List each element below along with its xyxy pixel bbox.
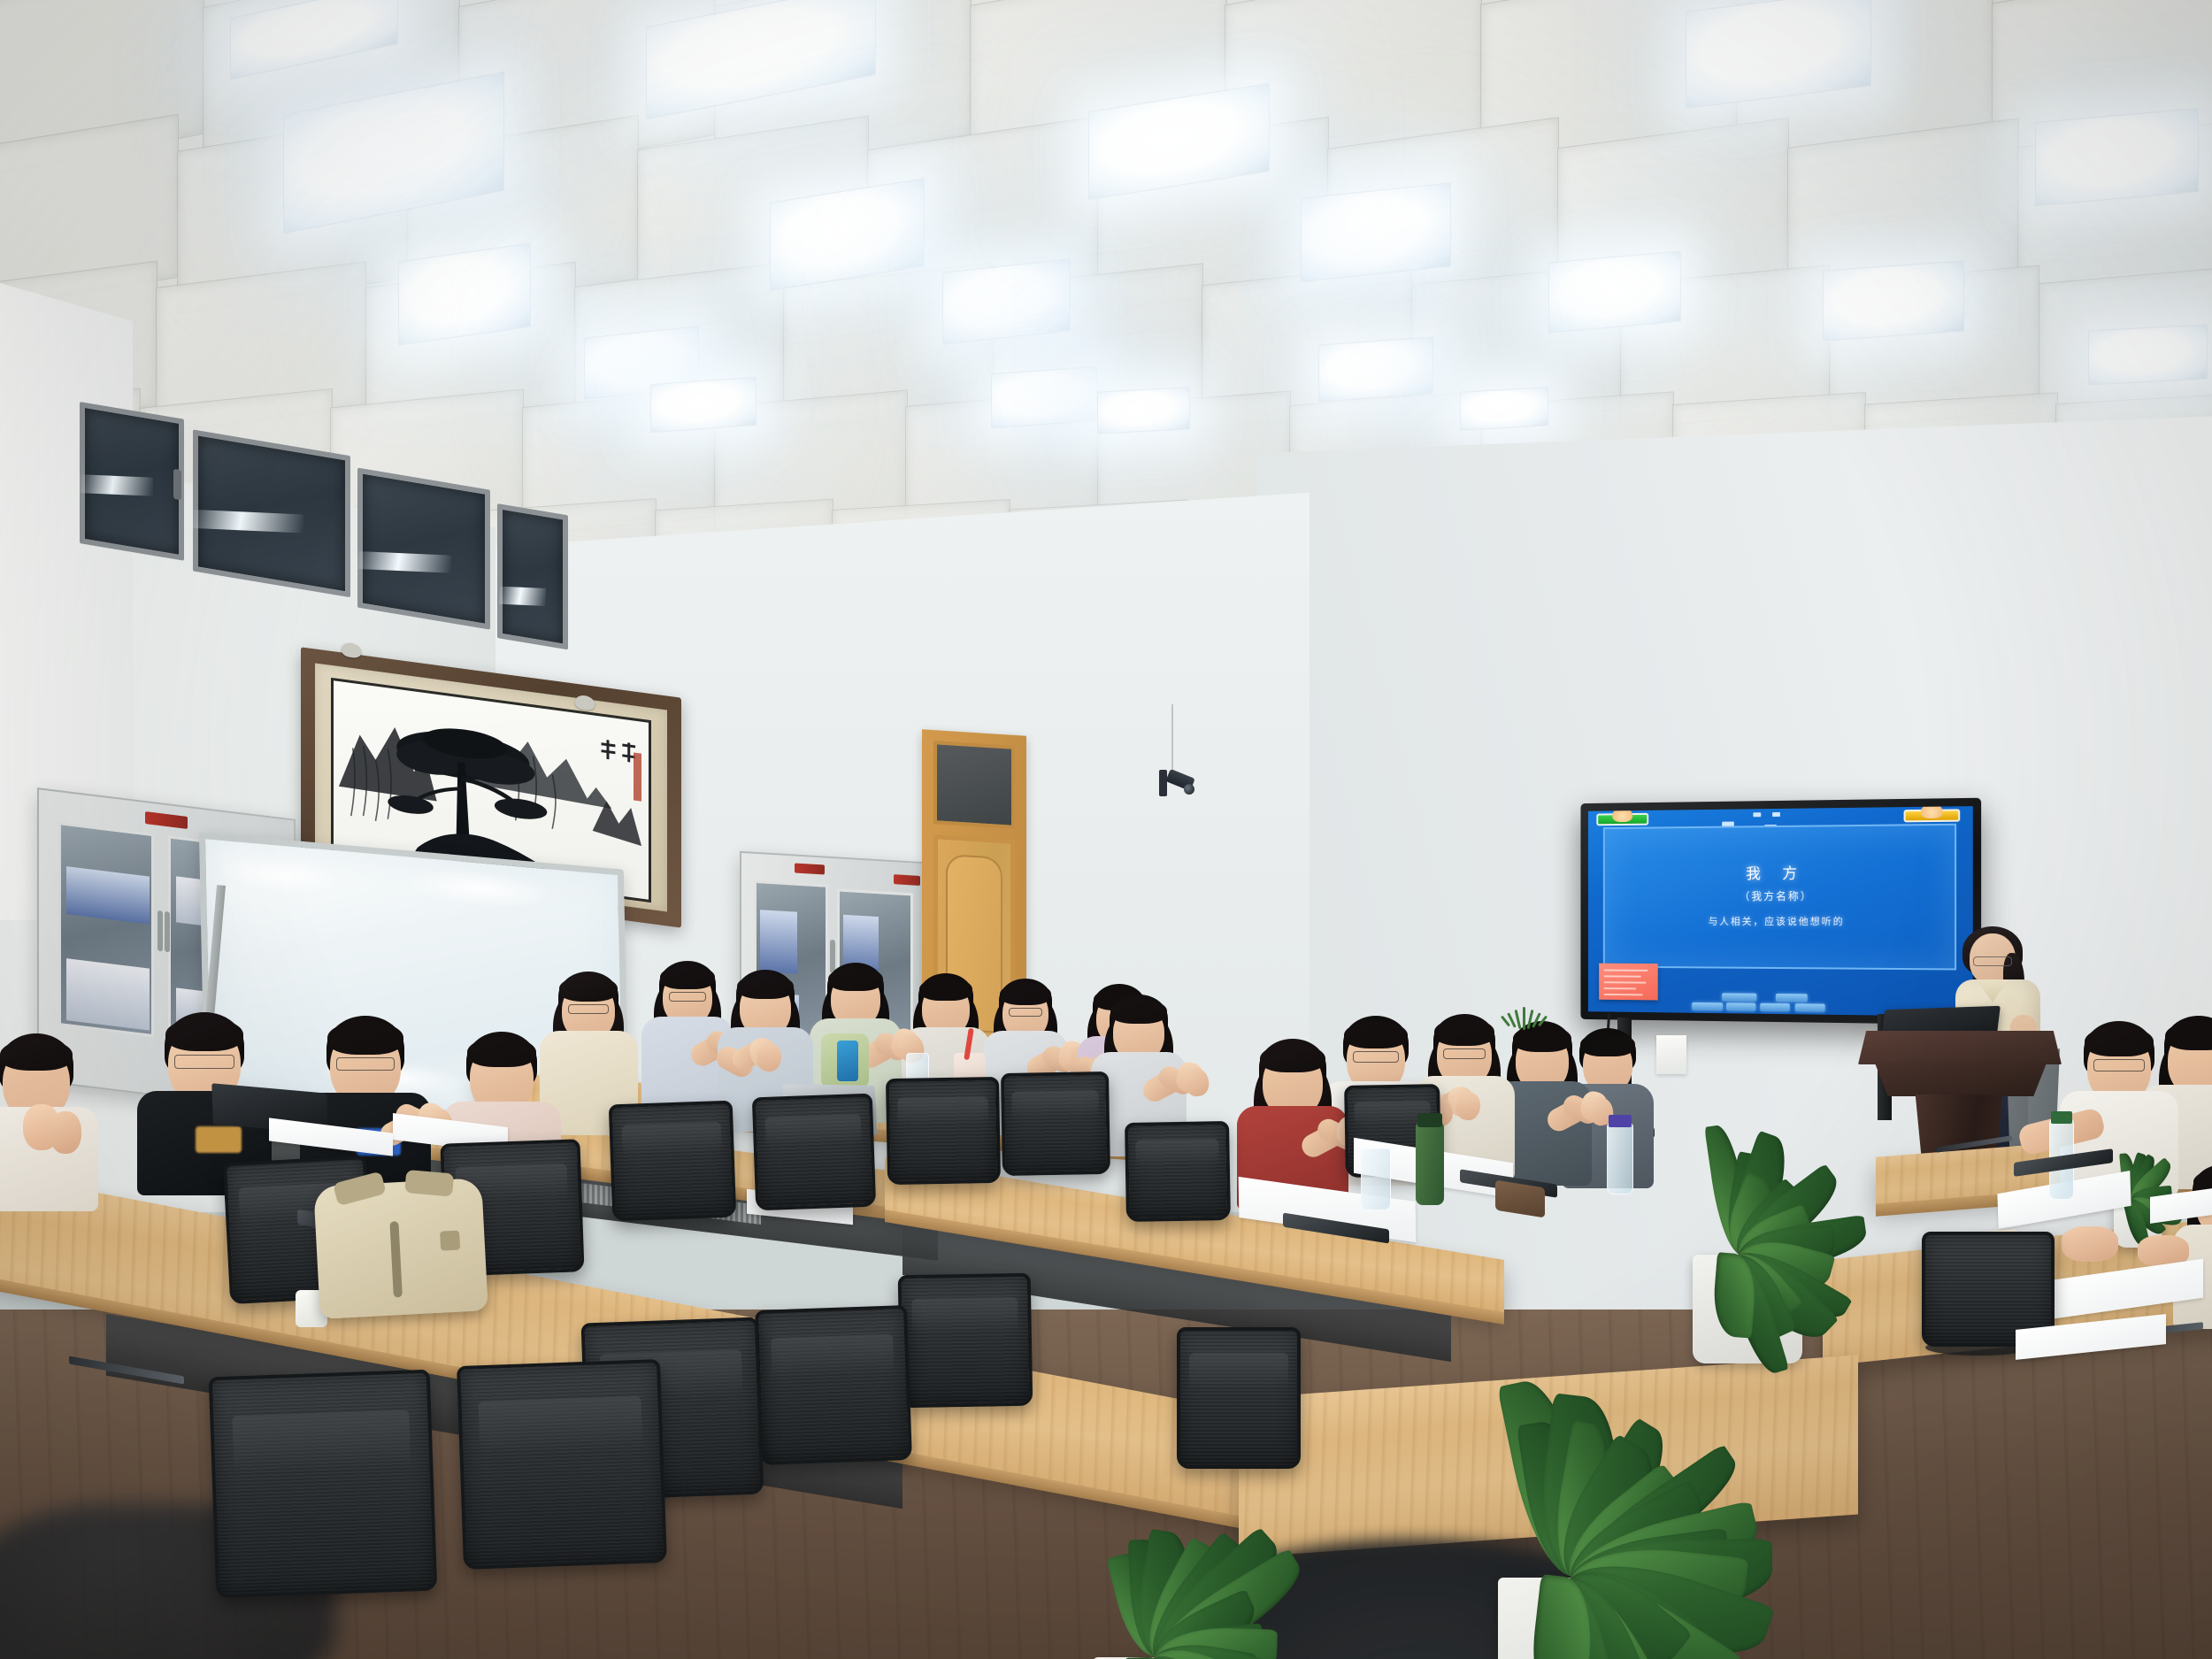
classroom-scene: 我 方 （我方名称） 与人相关，应该说他想听的 (0, 0, 2212, 1659)
hair-fringe (1434, 1018, 1494, 1045)
hair-fringe (559, 976, 618, 1002)
slide-content-frame: 我 方 （我方名称） 与人相关，应该说他想听的 (1603, 823, 1957, 970)
chair-backrest (755, 1305, 912, 1465)
ceiling-light-panel (1460, 387, 1548, 430)
hair-fringe (737, 974, 794, 999)
chair-lumbar-support (1012, 1090, 1099, 1118)
ceiling-light-panel (1548, 250, 1681, 333)
glasses (336, 1057, 395, 1071)
slide-subtitle: （我方名称） (1604, 888, 1955, 904)
thermos-bottle (1416, 1122, 1444, 1205)
chair-backrest (752, 1094, 876, 1211)
glasses (1353, 1051, 1399, 1063)
bottle-cap (1417, 1113, 1442, 1127)
hair-fringe (660, 965, 715, 989)
window-pane (497, 503, 568, 649)
ornament-leaf (1523, 1007, 1525, 1030)
slide-decor-left (1596, 813, 1648, 826)
slide-decor-right (1904, 809, 1961, 822)
taskbar-button[interactable] (1795, 1003, 1825, 1011)
chair-backrest (1001, 1071, 1110, 1176)
taskbar-button[interactable] (1761, 1003, 1791, 1011)
chair-backrest (609, 1101, 737, 1222)
hair-ornament (1504, 1007, 1557, 1042)
backpack-zipper (389, 1221, 402, 1297)
chair (1125, 1121, 1231, 1222)
ceiling-light-panel (1301, 182, 1451, 282)
window-reflection (80, 474, 153, 495)
hand (50, 1111, 81, 1154)
hair-fringe (1110, 999, 1167, 1024)
slide-body-line: 与人相关，应该说他想听的 (1604, 914, 1955, 928)
glass-tumbler (1361, 1148, 1391, 1210)
ceiling-light-panel (650, 377, 757, 433)
hair-fringe (1344, 1021, 1408, 1049)
glasses (568, 1004, 609, 1015)
chair (209, 1370, 438, 1599)
hair-fringe (1260, 1044, 1325, 1073)
hair-fringe (0, 1039, 73, 1071)
chair-lumbar-support (764, 1114, 862, 1147)
chair-lumbar-support (911, 1297, 1018, 1333)
hair-fringe (467, 1037, 536, 1067)
taskbar-button[interactable] (1692, 1002, 1723, 1010)
taskbar-button[interactable] (1723, 993, 1757, 1001)
ceiling-light-panel (1097, 387, 1190, 434)
ceiling-light-panel (1823, 260, 1964, 341)
ceiling-light-panel (1318, 336, 1433, 402)
window-reflection (499, 587, 546, 606)
chair-lumbar-support (897, 1096, 988, 1125)
hair-fringe (2085, 1026, 2154, 1056)
door-transom-window (933, 741, 1015, 829)
window-pane (357, 468, 490, 630)
window-latch[interactable] (173, 469, 181, 501)
glasses (1009, 1008, 1042, 1017)
ceiling-light-panel (2035, 108, 2199, 206)
hair-fringe (327, 1021, 403, 1055)
glasses (669, 992, 706, 1002)
window-reflection (356, 551, 451, 573)
chair (886, 1077, 1001, 1185)
chair-lumbar-support (232, 1410, 411, 1474)
chair-backrest (457, 1359, 667, 1570)
chair (752, 1094, 876, 1211)
security-camera-icon (1157, 766, 1198, 803)
chair-lumbar-support (771, 1333, 894, 1378)
shirt-graphic (196, 1126, 242, 1154)
backpack-strap (404, 1170, 454, 1197)
taskbar-button[interactable] (1726, 1002, 1755, 1010)
presentation-slide: 我 方 （我方名称） 与人相关，应该说他想听的 (1588, 806, 1973, 1017)
potted-plant-front (938, 1380, 1402, 1659)
glasses (2093, 1059, 2145, 1071)
glasses (174, 1055, 234, 1069)
taskbar-button[interactable] (1776, 994, 1808, 1002)
sticky-note-overlay (1599, 964, 1658, 1001)
window-reflection (189, 510, 303, 533)
chair-lumbar-support (478, 1396, 642, 1455)
hair-fringe (1000, 983, 1051, 1005)
wall-display[interactable]: 我 方 （我方名称） 与人相关，应该说他想听的 (1580, 798, 1981, 1025)
hand (2062, 1226, 2118, 1262)
hair-fringe (165, 1018, 243, 1052)
slide-title: 我 方 (1604, 859, 1955, 883)
chair-lumbar-support (1135, 1139, 1219, 1166)
chair (457, 1359, 667, 1570)
chair-backrest (886, 1077, 1001, 1185)
chair (755, 1305, 912, 1465)
chair-backrest (1125, 1121, 1231, 1222)
chair-lumbar-support (622, 1122, 722, 1156)
chair (1001, 1071, 1110, 1176)
glasses (1443, 1048, 1486, 1059)
ceiling-light-panel (2088, 324, 2208, 385)
bottle-cap (2051, 1111, 2072, 1124)
painting-seal (634, 752, 641, 801)
ceiling-light-panel (991, 366, 1097, 428)
hair-fringe (828, 967, 883, 991)
window-pane (80, 402, 184, 561)
backpack (313, 1178, 488, 1319)
chair-backrest (209, 1370, 438, 1599)
ceiling-light-panel (942, 258, 1071, 344)
shirt-graphic (837, 1041, 858, 1081)
window-pane (193, 429, 350, 597)
hair-fringe (919, 978, 972, 1001)
chair (609, 1101, 737, 1222)
backpack-buckle (440, 1231, 460, 1251)
